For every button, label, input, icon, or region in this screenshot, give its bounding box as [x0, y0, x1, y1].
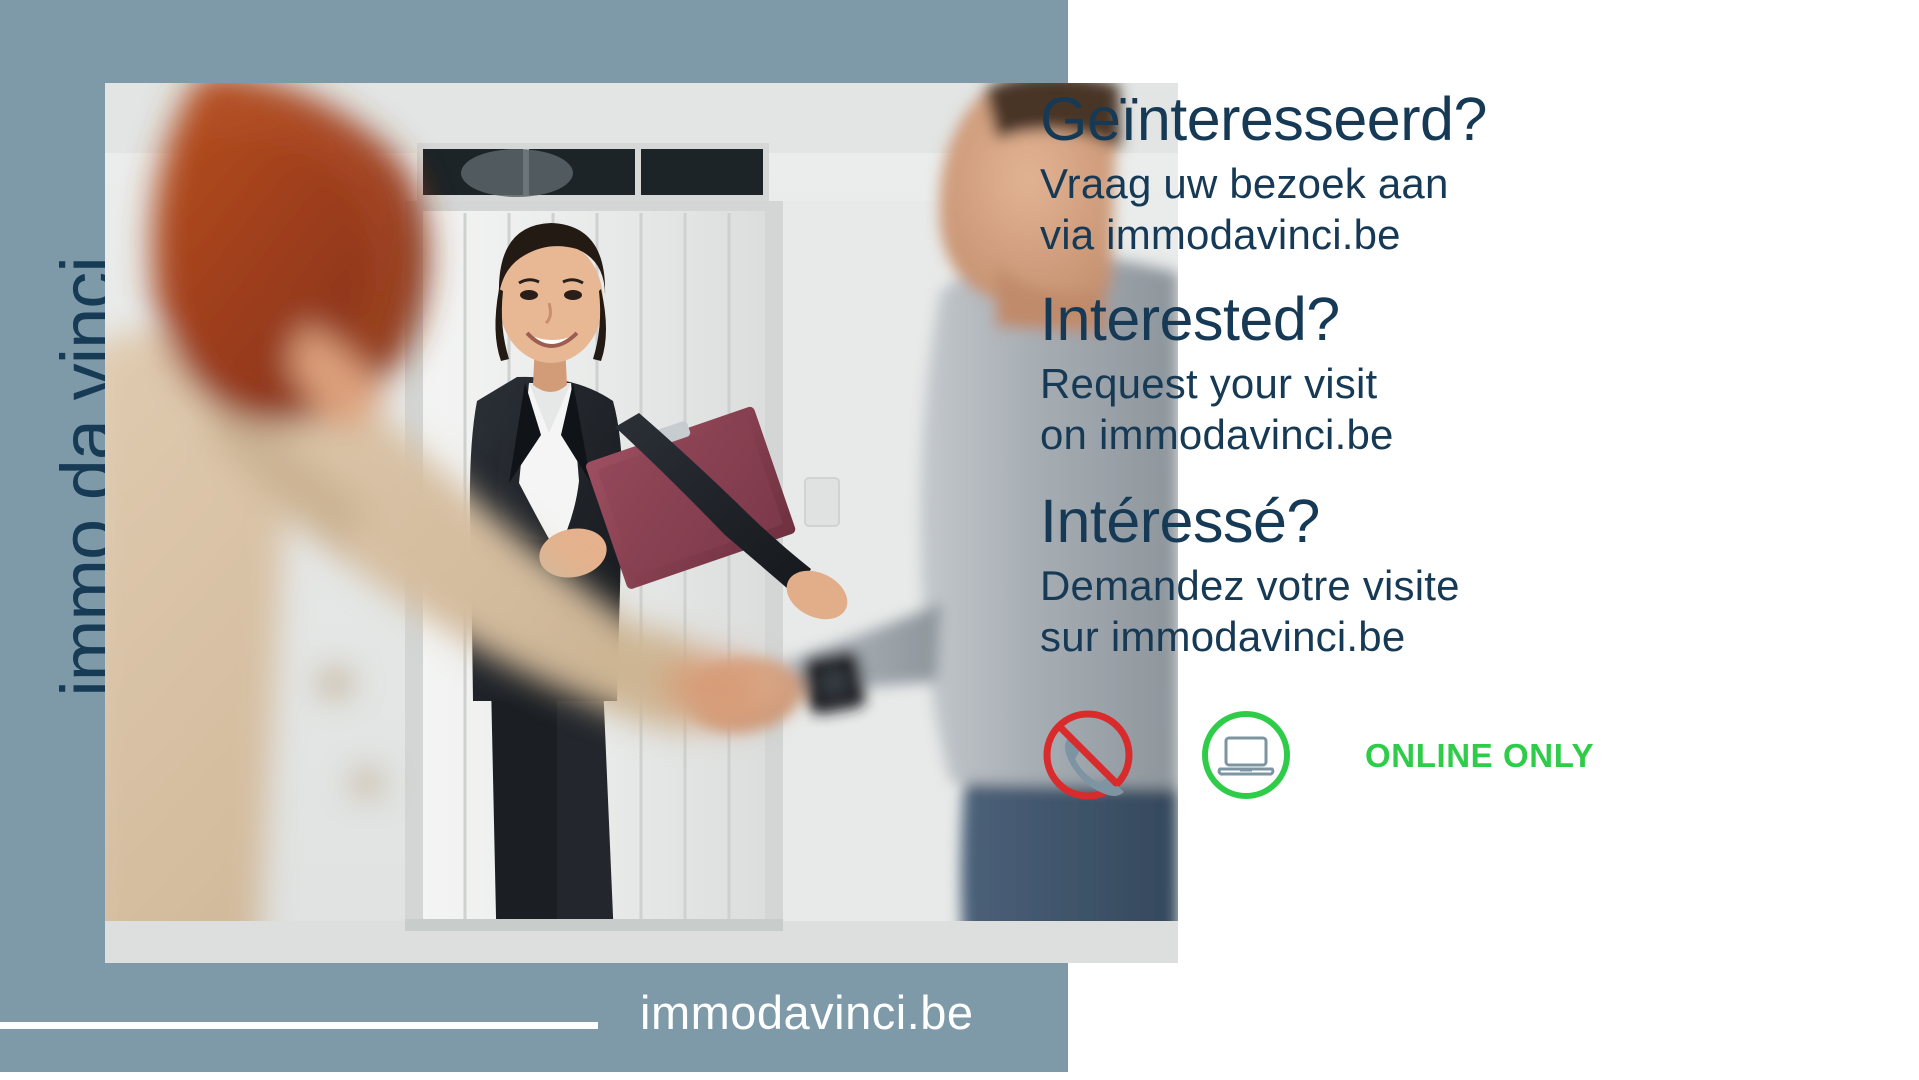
subline-en-1: Request your visit — [1040, 358, 1919, 409]
laptop-icon — [1198, 707, 1294, 803]
subline-fr-1: Demandez votre visite — [1040, 560, 1919, 611]
subline-en-2: on immodavinci.be — [1040, 409, 1919, 460]
footer-url[interactable]: immodavinci.be — [640, 989, 974, 1036]
message-column: Geïnteresseerd? Vraag uw bezoek aan via … — [1040, 0, 1919, 1080]
footer-rule — [0, 1022, 598, 1029]
laptop-icon-svg — [1198, 707, 1294, 803]
headline-nl: Geïnteresseerd? — [1040, 88, 1919, 150]
hero-photo-illustration — [105, 83, 1178, 963]
headline-fr: Intéressé? — [1040, 490, 1919, 552]
no-phone-icon — [1040, 707, 1136, 803]
headline-en: Interested? — [1040, 288, 1919, 350]
language-block-en: Interested? Request your visit on immoda… — [1040, 288, 1919, 461]
subline-fr-2: sur immodavinci.be — [1040, 611, 1919, 662]
subline-nl-1: Vraag uw bezoek aan — [1040, 158, 1919, 209]
hero-photo — [105, 83, 1178, 963]
poster-canvas: immo da vinci — [0, 0, 1919, 1080]
subline-nl-2: via immodavinci.be — [1040, 209, 1919, 260]
no-phone-icon-svg — [1040, 707, 1136, 803]
online-only-badge-row: ONLINE ONLY — [1040, 700, 1919, 810]
language-block-fr: Intéressé? Demandez votre visite sur imm… — [1040, 490, 1919, 663]
language-block-nl: Geïnteresseerd? Vraag uw bezoek aan via … — [1040, 88, 1919, 261]
online-only-label: ONLINE ONLY — [1365, 739, 1594, 772]
